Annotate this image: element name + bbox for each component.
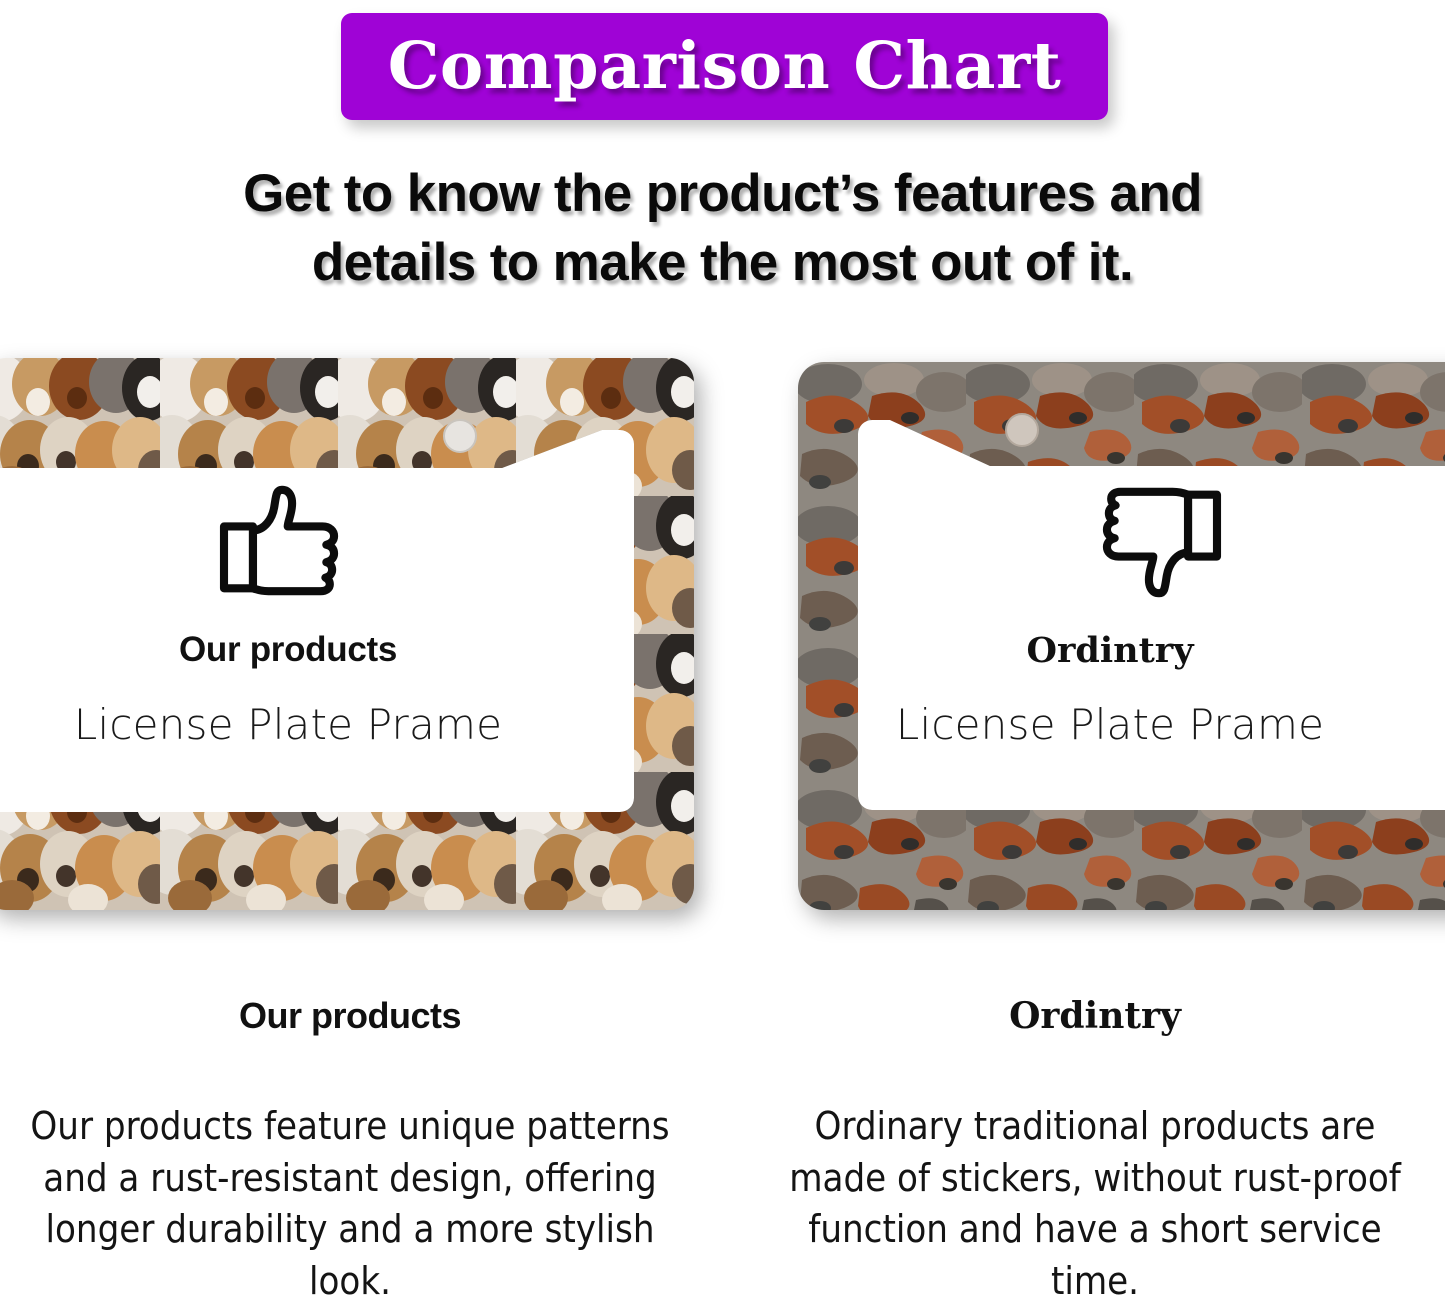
description-body-ordinary: Ordinary traditional products are made o… <box>745 1101 1445 1308</box>
license-plate-frame-ours-svg <box>0 358 694 910</box>
description-column-ordinary: Ordintry Ordinary traditional products a… <box>745 995 1445 1308</box>
frame-texture-ours <box>0 358 694 910</box>
description-column-ours: Our products Our products feature unique… <box>0 995 700 1308</box>
description-body-ours: Our products feature unique patterns and… <box>0 1101 700 1308</box>
frame-texture-ordinary <box>798 362 1445 910</box>
license-plate-frame-ordinary-svg <box>798 362 1445 910</box>
product-frame-ordinary <box>798 362 1445 910</box>
description-heading-ordinary: Ordintry <box>745 995 1445 1037</box>
product-frame-ours <box>0 358 694 910</box>
description-heading-ours: Our products <box>0 995 700 1037</box>
mounting-hole-ours <box>444 420 476 452</box>
mounting-hole-ordinary <box>1006 414 1038 446</box>
thumbs-down-icon <box>1096 487 1226 599</box>
thumbs-up-icon <box>215 484 345 596</box>
